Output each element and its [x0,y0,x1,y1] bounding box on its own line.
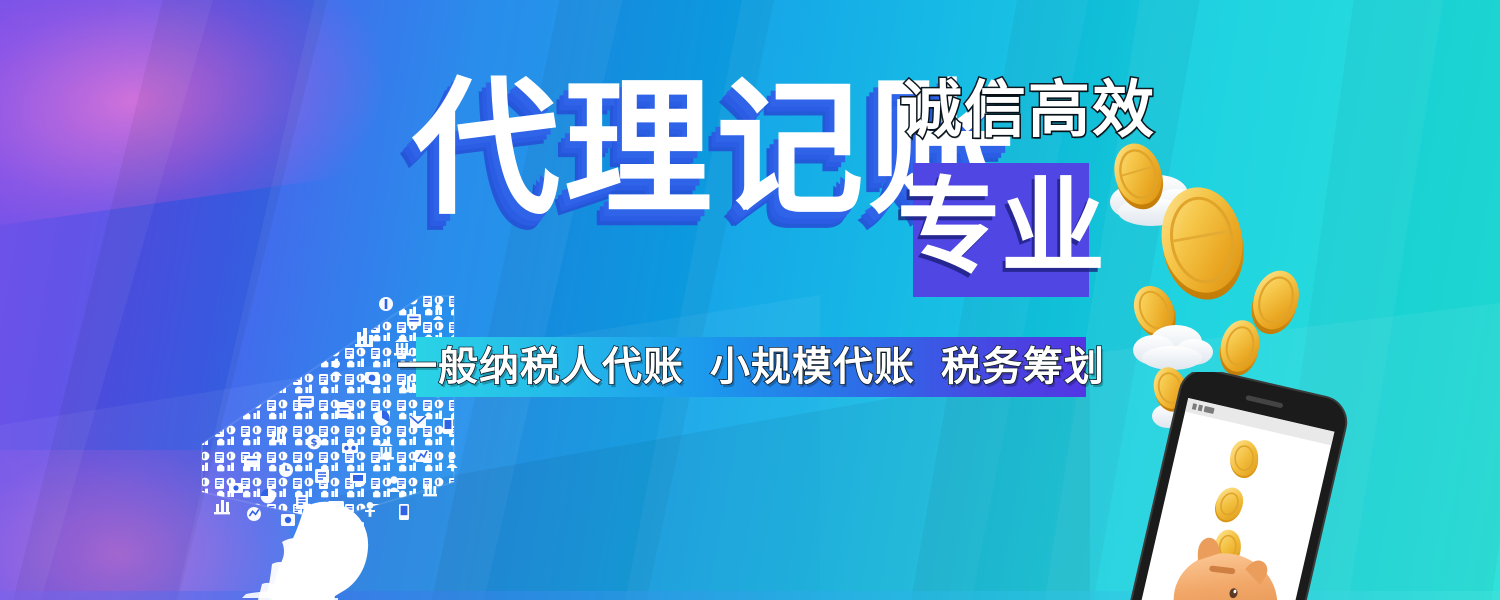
svg-text:$: $ [311,438,318,449]
services-bar: 一般纳税人代账 小规模代账 税务筹划 [416,337,1086,397]
service-item-general-taxpayer: 一般纳税人代账 [397,347,684,387]
banner-stage: $ [0,0,1500,600]
slogan-integrity-efficiency: 诚信高效 [900,80,1156,142]
smartphone-icon [1112,372,1412,600]
badge-professional: 专业 [913,163,1089,297]
service-item-small-scale: 小规模代账 [710,347,915,387]
cloud-icon [1133,325,1213,370]
hand-icon [242,502,368,600]
badge-professional-label: 专业 [897,176,1105,280]
service-item-tax-planning: 税务筹划 [941,347,1105,387]
